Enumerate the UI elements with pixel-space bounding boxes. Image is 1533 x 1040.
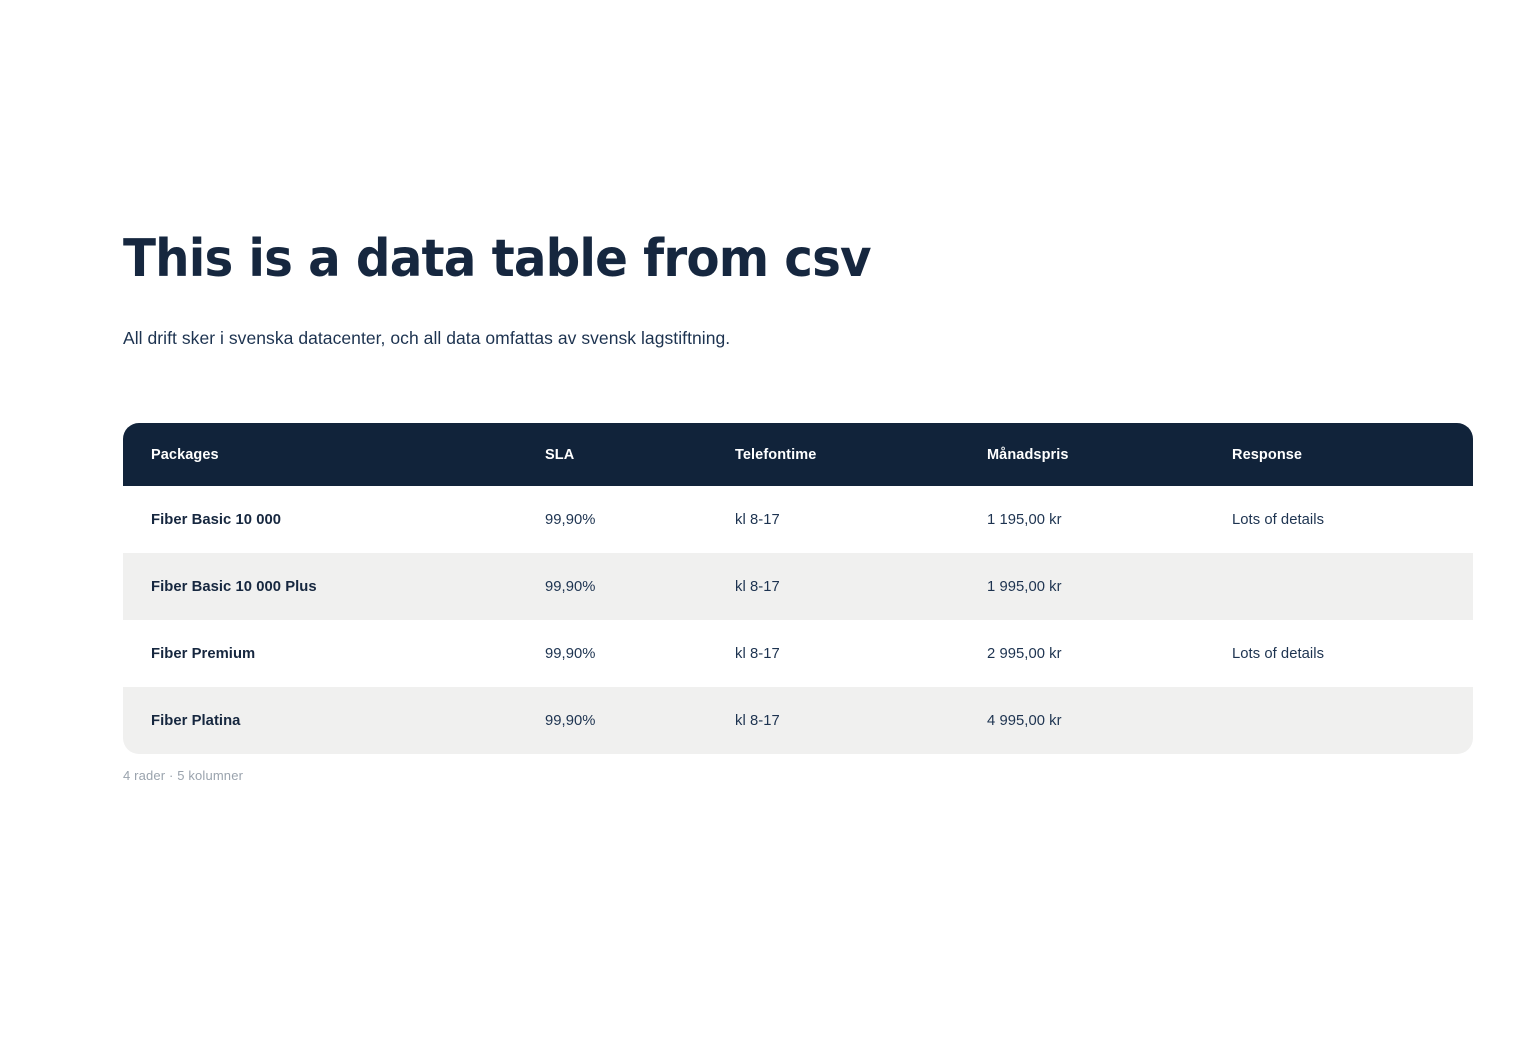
table-row[interactable]: Fiber Platina 99,90% kl 8-17 4 995,00 kr bbox=[123, 687, 1473, 754]
table-header-row: Packages SLA Telefontime Månadspris Resp… bbox=[123, 423, 1473, 486]
page-header-block: This is a data table from csv All drift … bbox=[123, 232, 1473, 350]
page-subtitle: All drift sker i svenska datacenter, och… bbox=[123, 287, 1473, 351]
cell-telefontime: kl 8-17 bbox=[735, 687, 987, 754]
cell-manadspris: 2 995,00 kr bbox=[987, 620, 1232, 687]
cell-packages: Fiber Premium bbox=[123, 620, 545, 687]
cell-sla: 99,90% bbox=[545, 486, 735, 553]
cell-manadspris: 1 995,00 kr bbox=[987, 553, 1232, 620]
cell-telefontime: kl 8-17 bbox=[735, 553, 987, 620]
page-title: This is a data table from csv bbox=[123, 232, 1379, 287]
data-table-container: Packages SLA Telefontime Månadspris Resp… bbox=[123, 423, 1473, 754]
table-row[interactable]: Fiber Basic 10 000 Plus 99,90% kl 8-17 1… bbox=[123, 553, 1473, 620]
table-body: Fiber Basic 10 000 99,90% kl 8-17 1 195,… bbox=[123, 486, 1473, 754]
cell-manadspris: 4 995,00 kr bbox=[987, 687, 1232, 754]
column-header-packages[interactable]: Packages bbox=[123, 423, 545, 486]
cell-telefontime: kl 8-17 bbox=[735, 620, 987, 687]
cell-sla: 99,90% bbox=[545, 553, 735, 620]
cell-response bbox=[1232, 687, 1473, 754]
column-header-manadspris[interactable]: Månadspris bbox=[987, 423, 1232, 486]
cell-response bbox=[1232, 553, 1473, 620]
cell-manadspris: 1 195,00 kr bbox=[987, 486, 1232, 553]
column-header-telefontime[interactable]: Telefontime bbox=[735, 423, 987, 486]
cell-packages: Fiber Basic 10 000 Plus bbox=[123, 553, 545, 620]
cell-response: Lots of details bbox=[1232, 486, 1473, 553]
column-header-response[interactable]: Response bbox=[1232, 423, 1473, 486]
table-head: Packages SLA Telefontime Månadspris Resp… bbox=[123, 423, 1473, 486]
cell-sla: 99,90% bbox=[545, 687, 735, 754]
data-table: Packages SLA Telefontime Månadspris Resp… bbox=[123, 423, 1473, 754]
page-root: This is a data table from csv All drift … bbox=[0, 0, 1533, 1040]
table-caption: 4 rader · 5 kolumner bbox=[123, 768, 243, 783]
cell-telefontime: kl 8-17 bbox=[735, 486, 987, 553]
cell-sla: 99,90% bbox=[545, 620, 735, 687]
table-row[interactable]: Fiber Premium 99,90% kl 8-17 2 995,00 kr… bbox=[123, 620, 1473, 687]
table-row[interactable]: Fiber Basic 10 000 99,90% kl 8-17 1 195,… bbox=[123, 486, 1473, 553]
cell-response: Lots of details bbox=[1232, 620, 1473, 687]
cell-packages: Fiber Platina bbox=[123, 687, 545, 754]
column-header-sla[interactable]: SLA bbox=[545, 423, 735, 486]
cell-packages: Fiber Basic 10 000 bbox=[123, 486, 545, 553]
